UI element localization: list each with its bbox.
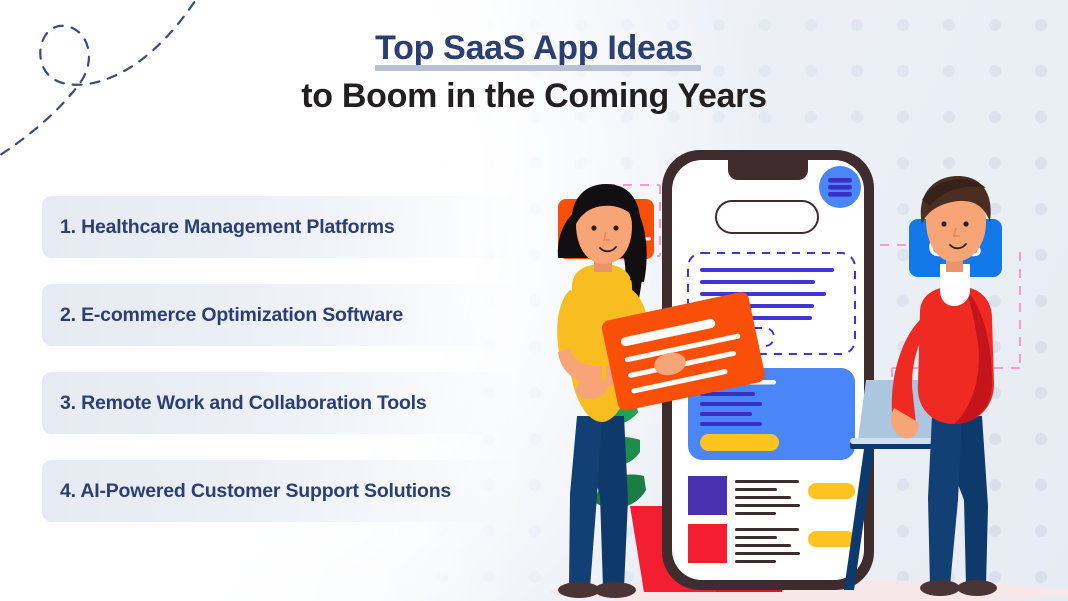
dashed-swoosh-decoration	[0, 0, 222, 176]
list-item[interactable]: 4. AI-Powered Customer Support Solutions	[42, 460, 512, 522]
list-item[interactable]: 3. Remote Work and Collaboration Tools	[42, 372, 512, 434]
thumbnail-red	[688, 524, 727, 563]
list-item-label: 4. AI-Powered Customer Support Solutions	[60, 480, 451, 503]
phone-cta-button	[700, 434, 779, 451]
hamburger-menu-icon	[819, 166, 861, 208]
man-at-laptop	[891, 176, 997, 596]
phone-search-bar	[716, 201, 818, 233]
list-item[interactable]: 1. Healthcare Management Platforms	[42, 196, 512, 258]
hero-illustration: < / > CSS	[520, 140, 1068, 601]
phone-notch	[728, 160, 808, 180]
row-action-button	[808, 483, 855, 499]
idea-list: 1. Healthcare Management Platforms 2. E-…	[42, 196, 512, 522]
list-item[interactable]: 2. E-commerce Optimization Software	[42, 284, 512, 346]
list-item-label: 2. E-commerce Optimization Software	[60, 304, 403, 327]
row-action-button	[808, 531, 855, 547]
thumbnail-purple	[688, 476, 727, 515]
list-item-label: 1. Healthcare Management Platforms	[60, 216, 395, 239]
list-item-label: 3. Remote Work and Collaboration Tools	[60, 392, 427, 415]
